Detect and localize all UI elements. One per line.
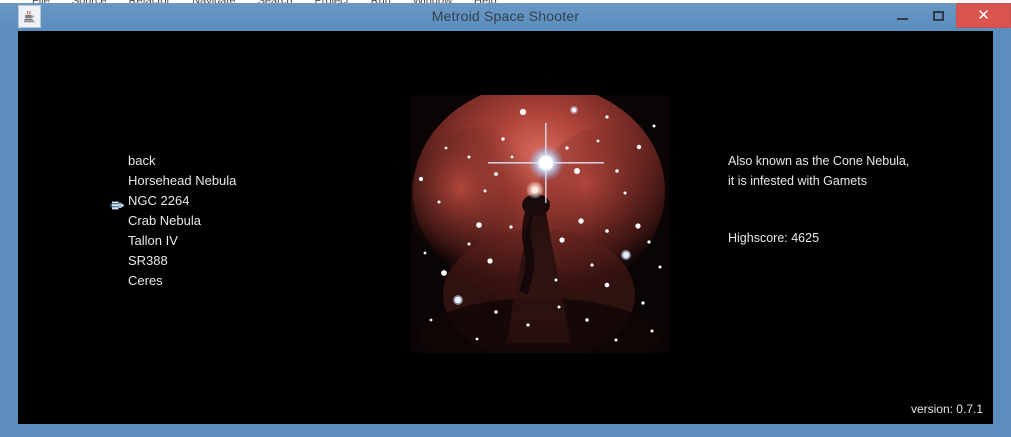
description-line-1: Also known as the Cone Nebula, [728,151,978,171]
maximize-button[interactable] [920,3,956,28]
menu-item-label: back [128,153,155,168]
menu-item-tallon-iv[interactable]: Tallon IV [110,231,370,251]
menu-item-sr388[interactable]: SR388 [110,251,370,271]
title-bar[interactable]: Metroid Space Shooter ✕ [0,3,1011,28]
menu-item-label: SR388 [128,253,168,268]
menu-item-label: Ceres [128,273,163,288]
version-label: version: 0.7.1 [911,402,983,416]
description-line-2: it is infested with Gamets [728,171,978,191]
menu-item-crab-nebula[interactable]: Crab Nebula [110,211,370,231]
game-canvas[interactable]: back Horsehead Nebula [18,31,993,424]
menu-item-label: Tallon IV [128,233,178,248]
application-window: Metroid Space Shooter ✕ back Horsehead N… [0,3,1011,437]
window-title: Metroid Space Shooter [0,3,1011,28]
minimize-button[interactable] [884,3,920,28]
menu-item-label: Crab Nebula [128,213,201,228]
level-menu[interactable]: back Horsehead Nebula [110,151,370,291]
screen: File Source Refactor Navigate Search Pro… [0,0,1011,437]
highscore-label: Highscore: 4625 [728,231,819,245]
ship-cursor-icon [110,196,124,205]
menu-item-ceres[interactable]: Ceres [110,271,370,291]
cone-nebula-image [411,95,669,353]
close-button[interactable]: ✕ [956,3,1011,28]
menu-item-back[interactable]: back [110,151,370,171]
menu-item-label: NGC 2264 [128,193,189,208]
menu-item-ngc-2264[interactable]: NGC 2264 [110,191,370,211]
menu-item-label: Horsehead Nebula [128,173,236,188]
menu-item-horsehead-nebula[interactable]: Horsehead Nebula [110,171,370,191]
window-controls: ✕ [884,3,1011,28]
level-description: Also known as the Cone Nebula, it is inf… [728,151,978,191]
